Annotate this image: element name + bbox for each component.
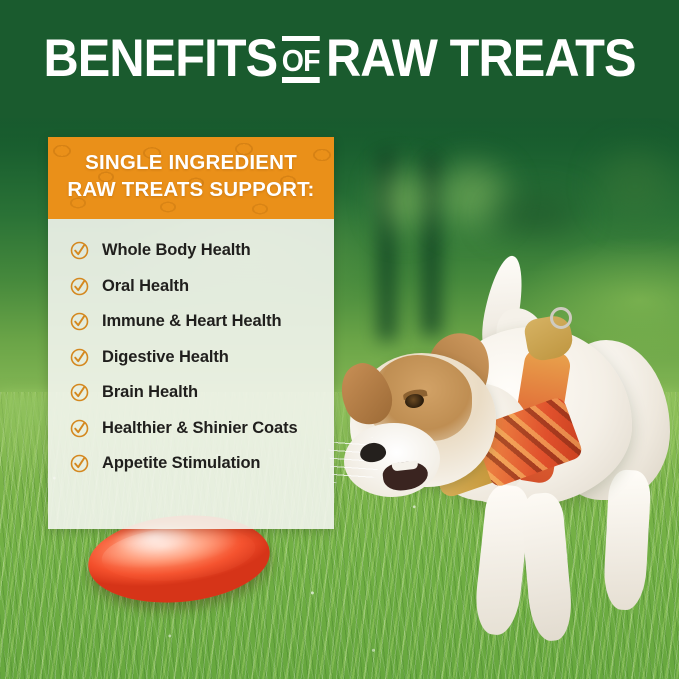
bokeh-shadow-1 bbox=[490, 195, 580, 235]
list-item-label: Oral Health bbox=[102, 277, 189, 296]
benefits-list: Whole Body Health Oral Health bbox=[48, 219, 334, 473]
list-item-label: Brain Health bbox=[102, 383, 198, 402]
list-item-label: Healthier & Shinier Coats bbox=[102, 419, 298, 438]
card-header: SINGLE INGREDIENT RAW TREATS SUPPORT: bbox=[48, 137, 334, 219]
bokeh-light-1 bbox=[381, 170, 427, 230]
list-item-label: Digestive Health bbox=[102, 348, 229, 367]
dog-harness-ring-icon bbox=[550, 307, 572, 329]
benefits-card: SINGLE INGREDIENT RAW TREATS SUPPORT: Wh… bbox=[48, 137, 334, 529]
check-circle-icon bbox=[70, 312, 89, 331]
check-circle-icon bbox=[70, 277, 89, 296]
check-circle-icon bbox=[70, 348, 89, 367]
list-item: Digestive Health bbox=[70, 348, 334, 367]
list-item: Brain Health bbox=[70, 383, 334, 402]
card-header-line-1: SINGLE INGREDIENT bbox=[48, 149, 334, 176]
list-item: Appetite Stimulation bbox=[70, 454, 334, 473]
bokeh-light-3 bbox=[600, 150, 670, 220]
list-item-label: Immune & Heart Health bbox=[102, 312, 281, 331]
dog-jack-russell-terrier bbox=[330, 255, 679, 679]
list-item: Oral Health bbox=[70, 277, 334, 296]
list-item-label: Whole Body Health bbox=[102, 241, 251, 260]
dog-hind-leg bbox=[602, 469, 651, 611]
list-item: Immune & Heart Health bbox=[70, 312, 334, 331]
list-item: Whole Body Health bbox=[70, 241, 334, 260]
dog-front-leg-right bbox=[520, 491, 575, 642]
page-title-word-2: RAW TREATS bbox=[326, 32, 636, 85]
list-item-label: Appetite Stimulation bbox=[102, 454, 260, 473]
page-title-word-1: BENEFITS bbox=[43, 32, 277, 85]
page-title: BENEFITSOFRAW TREATS bbox=[27, 32, 652, 88]
page-title-word-of: OF bbox=[282, 45, 320, 83]
card-header-text: SINGLE INGREDIENT RAW TREATS SUPPORT: bbox=[48, 137, 334, 203]
check-circle-icon bbox=[70, 419, 89, 438]
check-circle-icon bbox=[70, 454, 89, 473]
check-circle-icon bbox=[70, 383, 89, 402]
card-header-line-2: RAW TREATS SUPPORT: bbox=[48, 176, 334, 203]
list-item: Healthier & Shinier Coats bbox=[70, 419, 334, 438]
check-circle-icon bbox=[70, 241, 89, 260]
poster-root: BENEFITSOFRAW TREATS SINGLE INGREDIENT R… bbox=[0, 0, 679, 679]
